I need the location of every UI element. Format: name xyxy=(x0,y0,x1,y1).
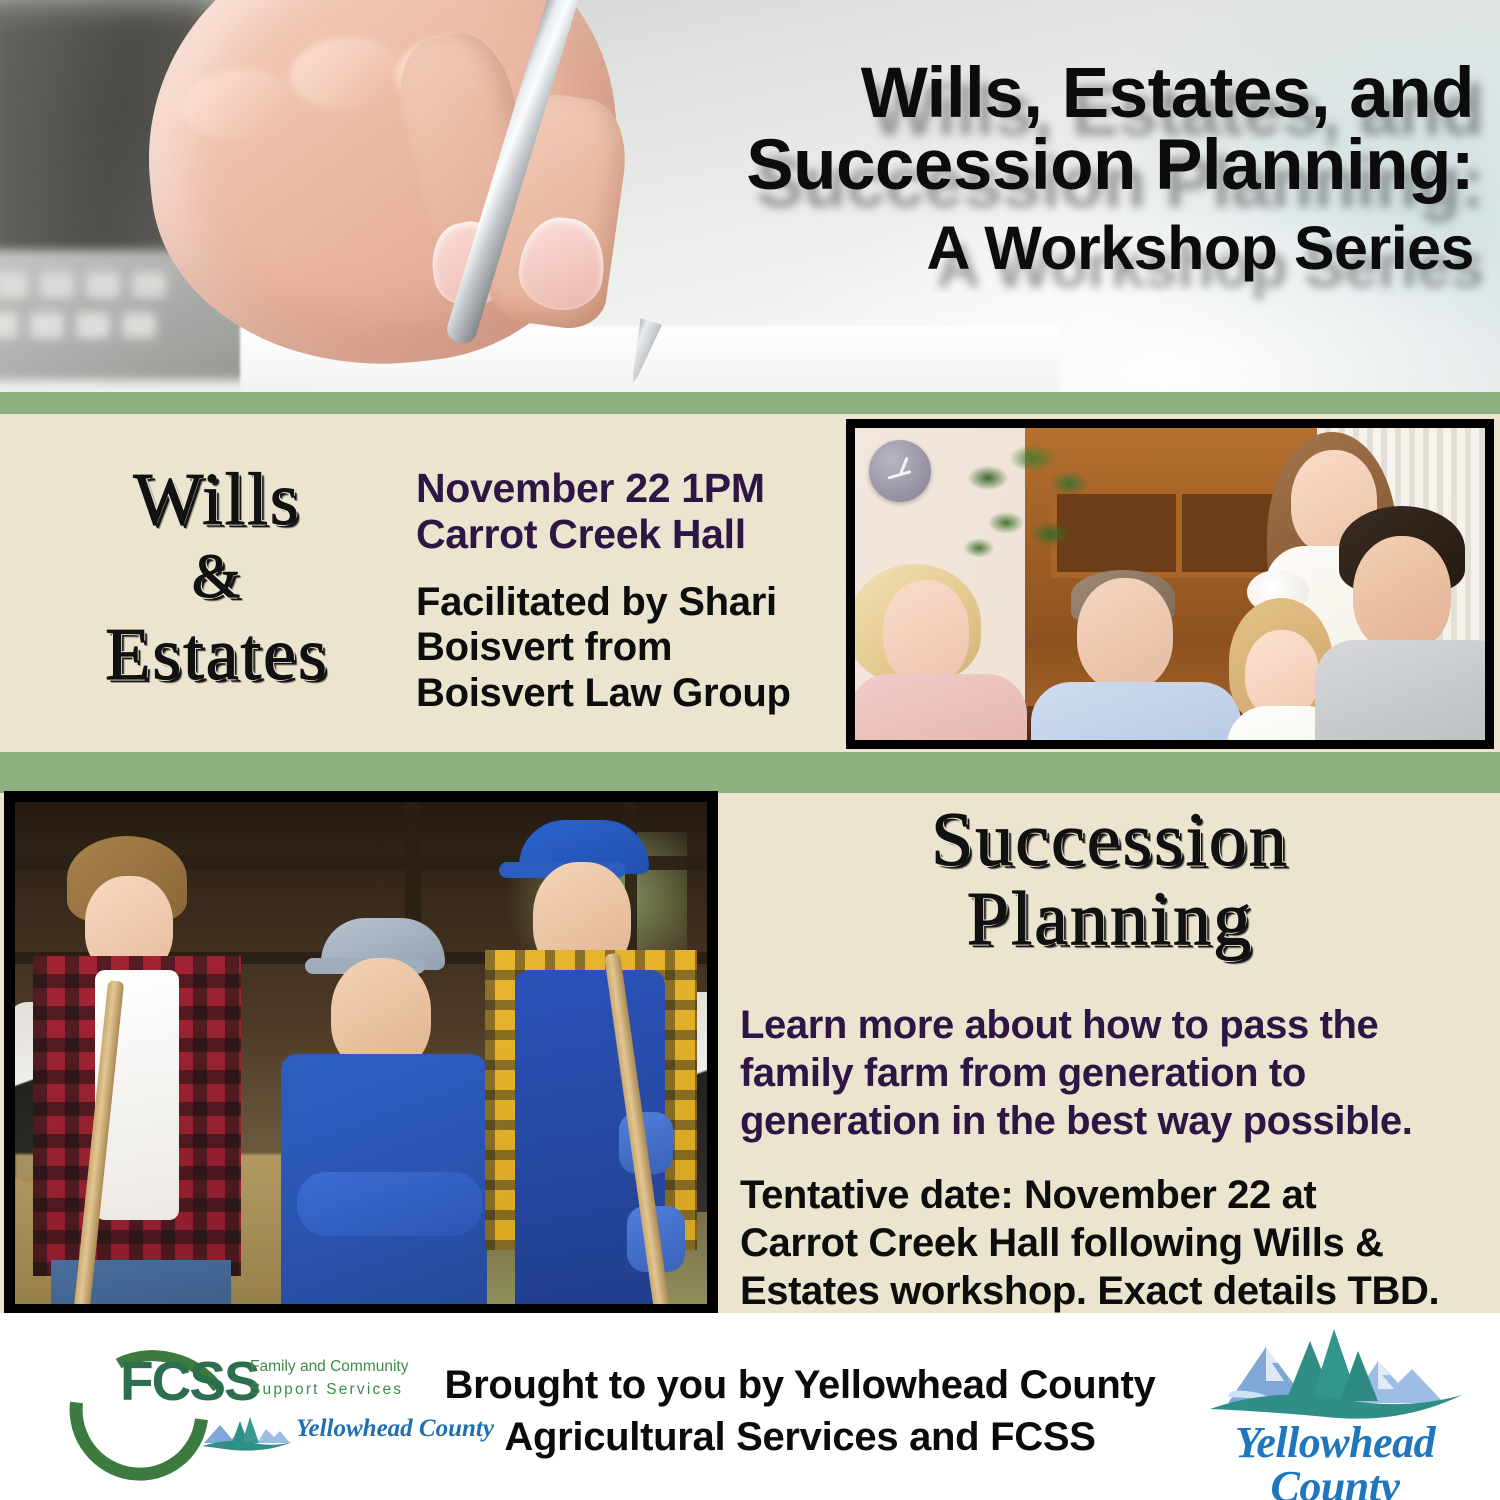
wills-facilitator: Facilitated by Shari Boisvert from Boisv… xyxy=(416,580,831,717)
wall-clock-icon xyxy=(869,440,931,502)
succession-note-line-3: Estates workshop. Exact details TBD. xyxy=(740,1267,1470,1315)
yellowhead-line-1: Yellowhead xyxy=(1200,1421,1470,1465)
family-photo xyxy=(846,419,1494,749)
grandfather-shirt xyxy=(1031,682,1241,749)
section-succession-planning: Succession Planning Learn more about how… xyxy=(0,793,1500,1313)
person-teen-farmer xyxy=(33,830,243,1300)
succession-lead-line-2: family farm from generation to xyxy=(740,1049,1470,1097)
facilitator-line-2: Boisvert from xyxy=(416,625,831,671)
wills-heading-line-1: Wills xyxy=(42,458,392,542)
person-elder-farmer xyxy=(291,914,491,1314)
facilitator-line-3: Boisvert Law Group xyxy=(416,671,831,717)
grandmother-sweater xyxy=(849,674,1027,749)
child-head xyxy=(1245,630,1319,718)
fcss-acronym: FCSS xyxy=(120,1349,259,1413)
poster-root: Wills, Estates, and Succession Planning:… xyxy=(0,0,1500,1500)
succession-lead-line-3: generation in the best way possible. xyxy=(740,1097,1470,1145)
young-man-sweater xyxy=(1315,640,1494,749)
succession-lead-line-1: Learn more about how to pass the xyxy=(740,1001,1470,1049)
succession-lead-paragraph: Learn more about how to pass the family … xyxy=(740,1001,1470,1145)
yellowhead-county-logo: Yellowhead County xyxy=(1200,1325,1470,1491)
fcss-tagline-line-2: Support Services xyxy=(250,1378,409,1401)
person-grandfather xyxy=(1045,522,1245,749)
succession-tentative-note: Tentative date: November 22 at Carrot Cr… xyxy=(740,1171,1470,1315)
fcss-tagline: Family and Community Support Services xyxy=(250,1355,409,1402)
farmers-photo xyxy=(4,791,718,1315)
mountain-tree-icon-large xyxy=(1200,1325,1470,1425)
fcss-tagline-line-1: Family and Community xyxy=(250,1355,409,1378)
yellowhead-line-2: County xyxy=(1200,1465,1470,1500)
fcss-yellowhead-lockup: Yellowhead County xyxy=(202,1409,402,1457)
succession-text-block: Learn more about how to pass the family … xyxy=(740,1001,1470,1315)
succession-planning-heading: Succession Planning xyxy=(740,801,1480,959)
hero-banner: Wills, Estates, and Succession Planning:… xyxy=(0,0,1500,392)
wills-estates-heading: Wills & Estates xyxy=(42,458,392,697)
wills-date-time: November 22 1PM xyxy=(416,466,831,512)
title-line-3: A Workshop Series xyxy=(714,217,1474,279)
divider-band-top xyxy=(0,392,1500,414)
footer-credit-text: Brought to you by Yellowhead County Agri… xyxy=(420,1359,1180,1463)
credit-line-2: Agricultural Services and FCSS xyxy=(420,1411,1180,1463)
young-man-head xyxy=(1353,536,1451,652)
credit-line-1: Brought to you by Yellowhead County xyxy=(420,1359,1180,1411)
person-young-man xyxy=(1325,488,1494,749)
elder-crossed-arms xyxy=(297,1172,483,1236)
wills-heading-ampersand: & xyxy=(42,542,392,613)
page-title: Wills, Estates, and Succession Planning:… xyxy=(714,58,1474,279)
succession-note-line-1: Tentative date: November 22 at xyxy=(740,1171,1470,1219)
section-wills-estates: Wills & Estates November 22 1PM Carrot C… xyxy=(0,414,1500,752)
fcss-logo: FCSS Family and Community Support Servic… xyxy=(62,1335,402,1485)
footer-bar: FCSS Family and Community Support Servic… xyxy=(0,1313,1500,1500)
succession-heading-line-2: Planning xyxy=(740,880,1480,959)
person-adult-farmer xyxy=(491,820,701,1315)
mountain-tree-icon-small xyxy=(202,1413,292,1453)
grandmother-head xyxy=(883,580,969,684)
facilitator-line-1: Facilitated by Shari xyxy=(416,580,831,626)
succession-note-line-2: Carrot Creek Hall following Wills & xyxy=(740,1219,1470,1267)
succession-heading-line-1: Succession xyxy=(740,801,1480,880)
wills-datetime: November 22 1PM Carrot Creek Hall xyxy=(416,466,831,558)
title-line-2: Succession Planning: xyxy=(714,130,1474,202)
grandfather-head xyxy=(1077,578,1173,690)
yellowhead-county-name: Yellowhead County xyxy=(1200,1421,1470,1500)
wills-details-block: November 22 1PM Carrot Creek Hall Facili… xyxy=(416,466,831,717)
divider-band-middle xyxy=(0,752,1500,793)
person-grandmother xyxy=(849,506,1029,749)
wills-heading-line-2: Estates xyxy=(42,613,392,697)
wills-venue: Carrot Creek Hall xyxy=(416,512,831,558)
title-line-1: Wills, Estates, and xyxy=(714,58,1474,130)
